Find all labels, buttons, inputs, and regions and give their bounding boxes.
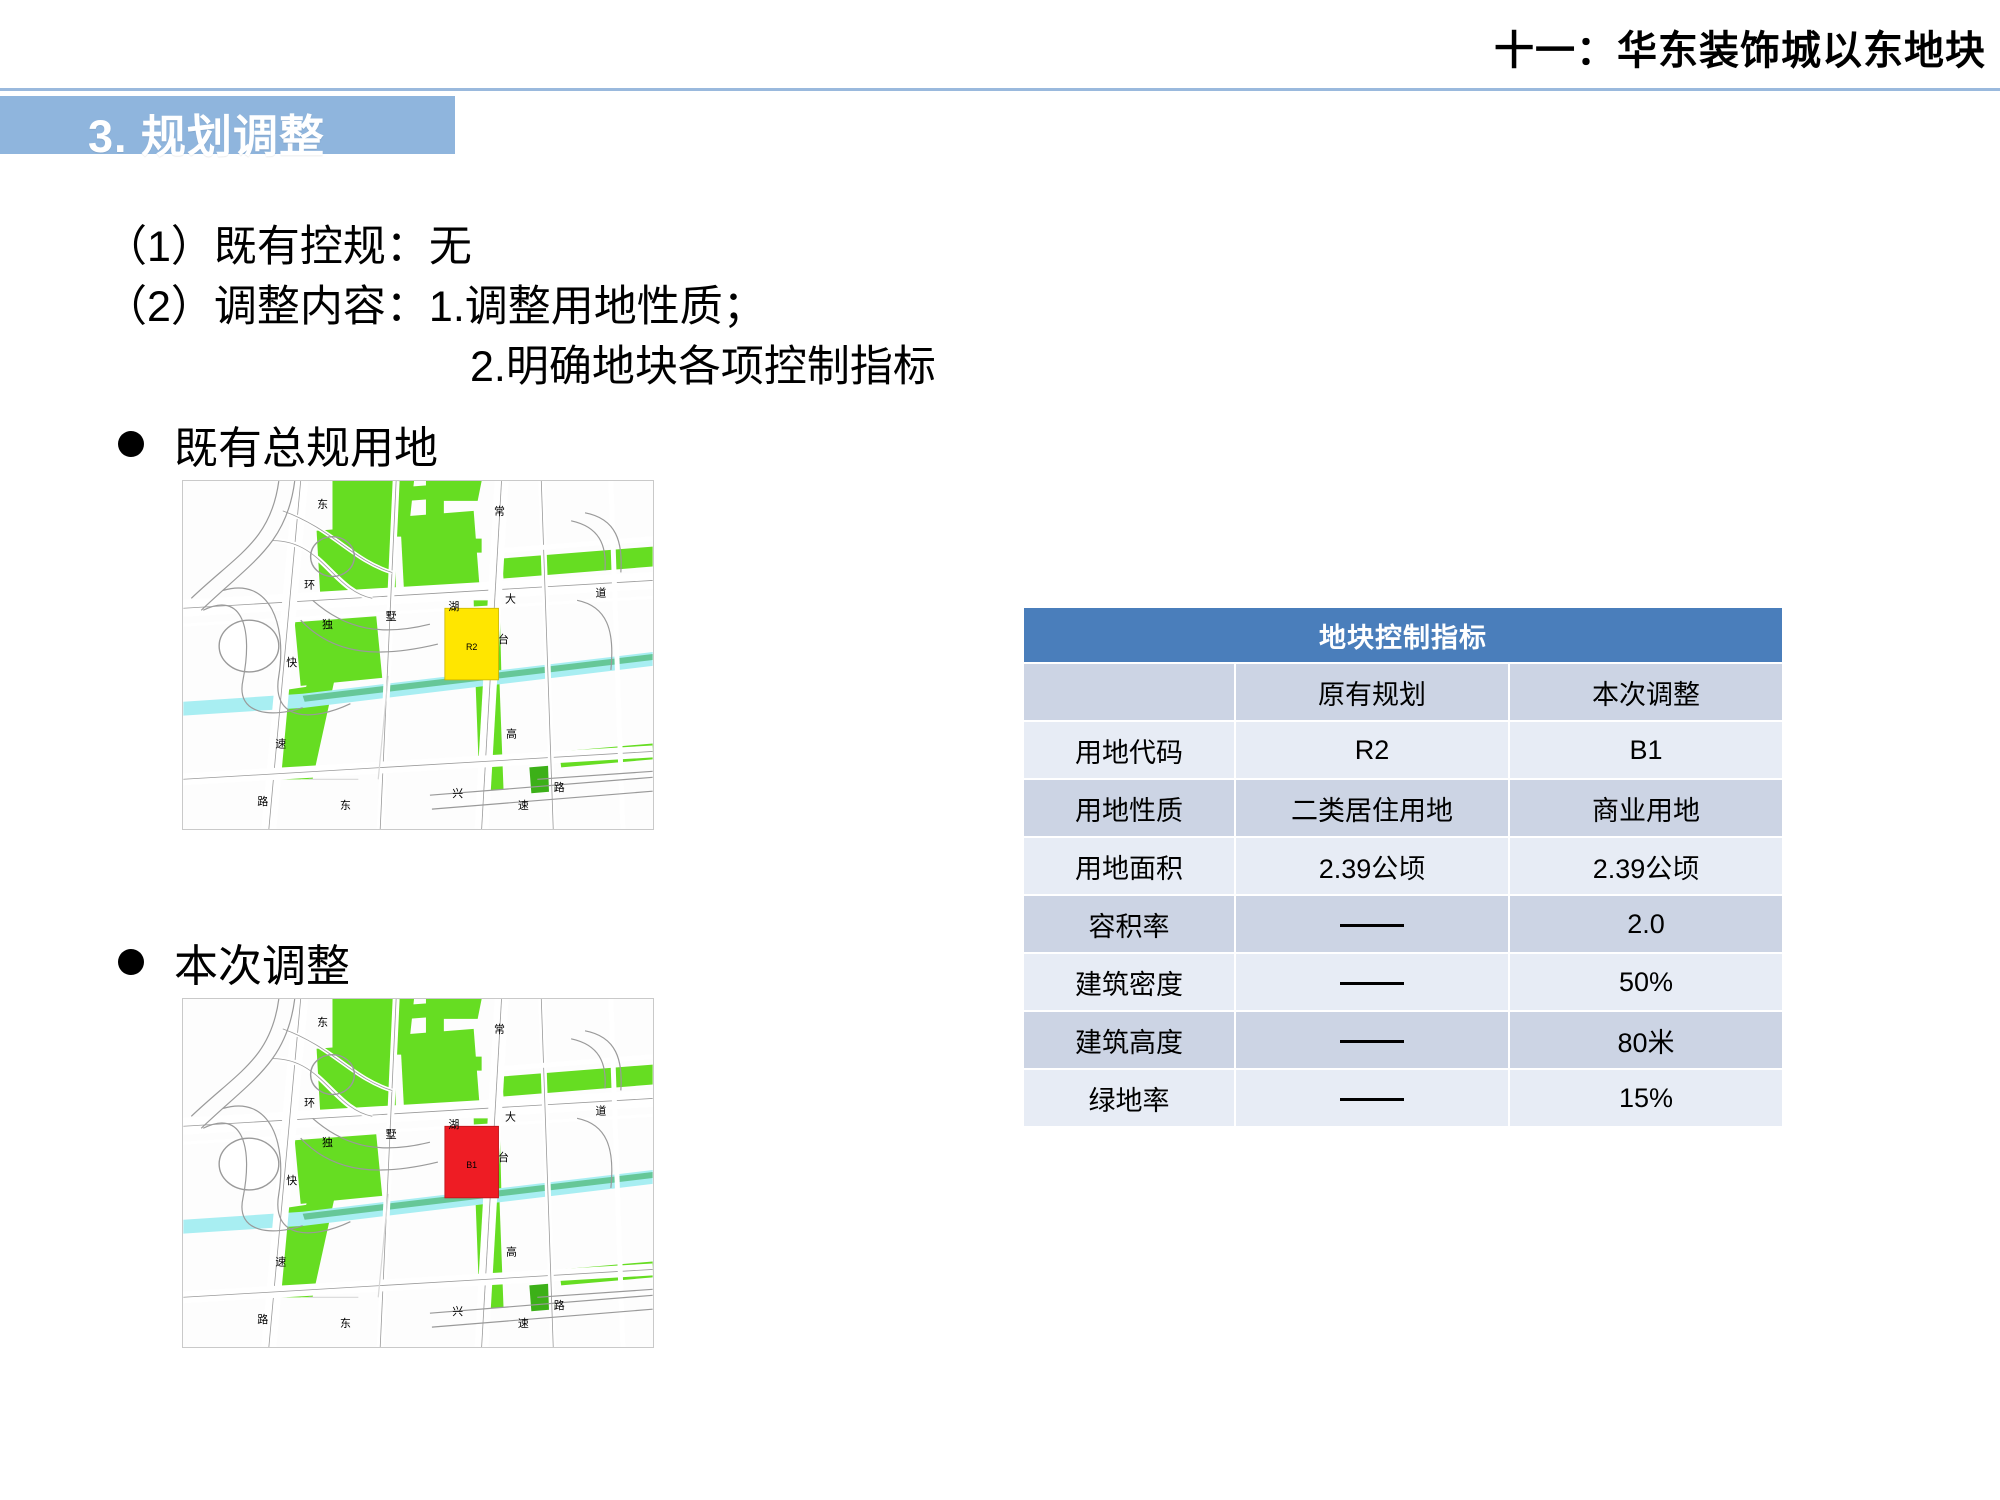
svg-text:速: 速 (518, 799, 529, 812)
bullet-dot-icon (118, 949, 144, 975)
svg-text:高: 高 (506, 727, 517, 741)
table-cell-adjusted: 80米 (1510, 1012, 1782, 1068)
svg-text:道: 道 (595, 585, 606, 599)
table-cell-adjusted: B1 (1510, 722, 1782, 778)
svg-text:速: 速 (518, 1317, 529, 1330)
table-row: 用地代码R2B1 (1024, 722, 1782, 778)
svg-text:兴: 兴 (452, 1305, 463, 1318)
svg-text:高: 高 (506, 1245, 517, 1259)
svg-text:路: 路 (554, 781, 565, 794)
svg-text:大: 大 (505, 1109, 516, 1123)
svg-text:快: 快 (286, 1174, 297, 1187)
table-cell-original: 二类居住用地 (1236, 780, 1508, 836)
table-cell-original: R2 (1236, 722, 1508, 778)
table-row: 建筑密度50% (1024, 954, 1782, 1010)
slide-root: 十一：华东装饰城以东地块 3. 规划调整 （1）既有控规：无 （2）调整内容：1… (0, 0, 2000, 1500)
svg-text:独: 独 (322, 1136, 333, 1149)
svg-text:独: 独 (322, 618, 333, 631)
table-header-row: 原有规划 本次调整 (1024, 664, 1782, 720)
table-cell-indicator-name: 用地面积 (1024, 838, 1234, 894)
table-header-original: 原有规划 (1236, 664, 1508, 720)
table-cell-adjusted: 2.0 (1510, 896, 1782, 952)
table-header-blank (1024, 664, 1234, 720)
svg-text:常: 常 (494, 505, 505, 518)
header-divider (0, 88, 2000, 91)
bullet-label-existing: 既有总规用地 (174, 412, 438, 476)
table-cell-adjusted: 15% (1510, 1070, 1782, 1126)
table-cell-indicator-name: 建筑密度 (1024, 954, 1234, 1010)
svg-text:东: 东 (317, 1016, 328, 1029)
bullet-existing-master-plan: 既有总规用地 (118, 412, 438, 476)
table-title-row: 地块控制指标 (1024, 608, 1782, 662)
em-dash-icon (1340, 1040, 1404, 1043)
indicator-table-wrapper: 地块控制指标 原有规划 本次调整 用地代码R2B1用地性质二类居住用地商业用地用… (1022, 606, 1782, 1128)
table-row: 容积率2.0 (1024, 896, 1782, 952)
svg-text:快: 快 (286, 656, 297, 669)
page-title: 十一：华东装饰城以东地块 (1494, 18, 1986, 76)
svg-text:大: 大 (505, 591, 516, 605)
table-cell-indicator-name: 用地性质 (1024, 780, 1234, 836)
bullet-current-adjustment: 本次调整 (118, 930, 350, 994)
table-cell-adjusted: 2.39公顷 (1510, 838, 1782, 894)
svg-text:R2: R2 (466, 642, 477, 652)
svg-text:道: 道 (595, 1103, 606, 1117)
svg-text:东: 东 (317, 498, 328, 511)
table-cell-original (1236, 896, 1508, 952)
paragraph-adjustment-content: （2）调整内容：1.调整用地性质； (104, 272, 766, 334)
svg-text:墅: 墅 (386, 610, 397, 623)
table-cell-indicator-name: 绿地率 (1024, 1070, 1234, 1126)
svg-text:台: 台 (498, 632, 509, 646)
svg-text:东: 东 (340, 1317, 351, 1330)
table-row: 用地性质二类居住用地商业用地 (1024, 780, 1782, 836)
svg-text:速: 速 (275, 737, 286, 750)
bullet-dot-icon (118, 431, 144, 457)
table-cell-adjusted: 50% (1510, 954, 1782, 1010)
table-cell-indicator-name: 用地代码 (1024, 722, 1234, 778)
svg-text:墅: 墅 (386, 1128, 397, 1141)
paragraph-existing-regulatory-plan: （1）既有控规：无 (104, 212, 472, 274)
em-dash-icon (1340, 1098, 1404, 1101)
table-title: 地块控制指标 (1024, 608, 1782, 662)
section-title: 3. 规划调整 (88, 100, 325, 165)
em-dash-icon (1340, 924, 1404, 927)
em-dash-icon (1340, 982, 1404, 985)
svg-text:东: 东 (340, 799, 351, 812)
table-header-adjusted: 本次调整 (1510, 664, 1782, 720)
table-row: 建筑高度80米 (1024, 1012, 1782, 1068)
svg-text:常: 常 (494, 1023, 505, 1036)
svg-text:湖: 湖 (448, 1118, 459, 1131)
table-cell-indicator-name: 建筑高度 (1024, 1012, 1234, 1068)
svg-text:环: 环 (304, 578, 315, 591)
svg-text:路: 路 (554, 1299, 565, 1312)
svg-text:B1: B1 (466, 1160, 477, 1170)
map-existing-master-plan: R2 常 东 环 独 墅 湖 大 道 快 台 速 高 路 东 兴 路 速 (182, 480, 654, 830)
table-cell-original (1236, 1012, 1508, 1068)
svg-text:路: 路 (257, 795, 268, 808)
bullet-label-adjustment: 本次调整 (174, 930, 350, 994)
table-body: 用地代码R2B1用地性质二类居住用地商业用地用地面积2.39公顷2.39公顷容积… (1024, 722, 1782, 1126)
table-cell-original (1236, 954, 1508, 1010)
svg-text:路: 路 (257, 1313, 268, 1326)
table-row: 用地面积2.39公顷2.39公顷 (1024, 838, 1782, 894)
svg-text:兴: 兴 (452, 787, 463, 800)
table-row: 绿地率15% (1024, 1070, 1782, 1126)
svg-text:台: 台 (498, 1150, 509, 1164)
table-cell-adjusted: 商业用地 (1510, 780, 1782, 836)
paragraph-adjustment-content-2: 2.明确地块各项控制指标 (470, 332, 936, 394)
table-cell-indicator-name: 容积率 (1024, 896, 1234, 952)
svg-text:环: 环 (304, 1096, 315, 1109)
indicator-table: 地块控制指标 原有规划 本次调整 用地代码R2B1用地性质二类居住用地商业用地用… (1022, 606, 1784, 1128)
table-cell-original: 2.39公顷 (1236, 838, 1508, 894)
svg-text:速: 速 (275, 1255, 286, 1268)
table-cell-original (1236, 1070, 1508, 1126)
map-current-adjustment: B1 常 东 环 独 墅 湖 大 道 快 台 速 高 路 东 兴 路 速 (182, 998, 654, 1348)
svg-text:湖: 湖 (448, 600, 459, 613)
